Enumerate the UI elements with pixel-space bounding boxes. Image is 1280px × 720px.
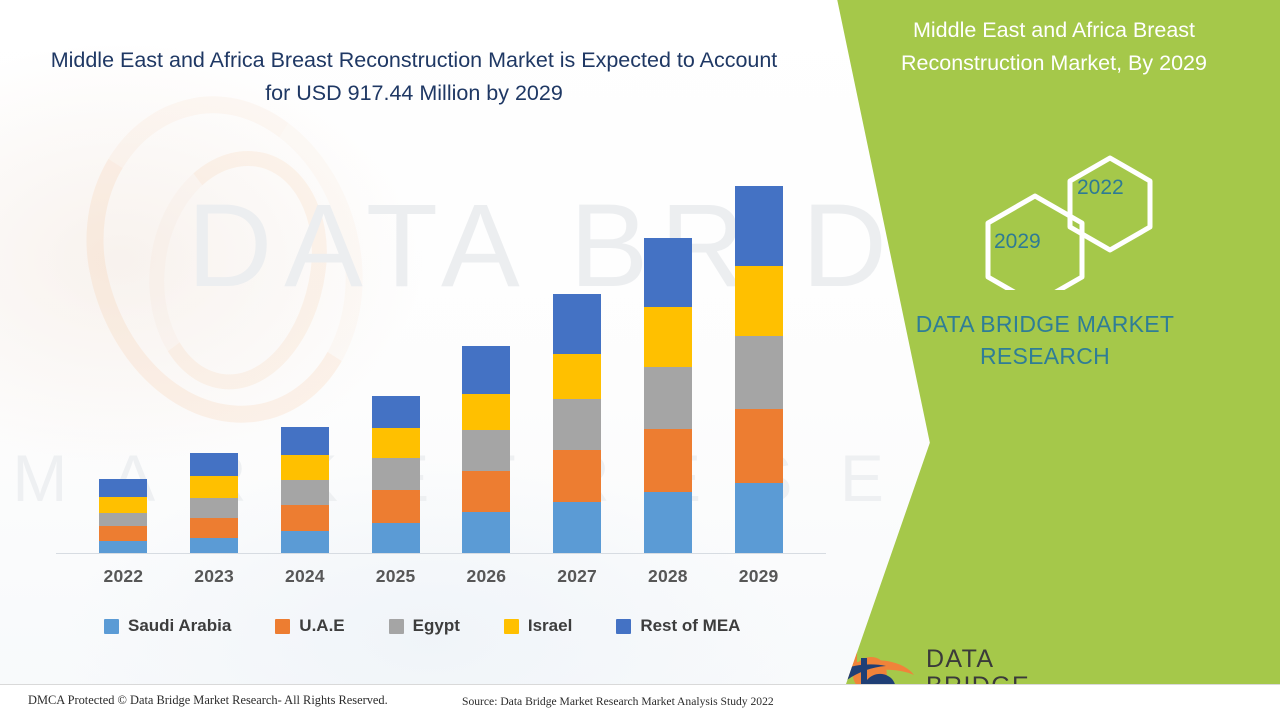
legend-label: Egypt bbox=[413, 616, 460, 636]
x-axis-label-2023: 2023 bbox=[169, 566, 260, 587]
bar-segment-rest-of-mea bbox=[99, 479, 147, 497]
bar-segment-u-a-e bbox=[553, 450, 601, 502]
stacked-bar bbox=[462, 346, 510, 554]
chart-plot-area bbox=[56, 160, 826, 554]
bar-column-2026 bbox=[441, 160, 532, 554]
bar-segment-rest-of-mea bbox=[462, 346, 510, 394]
bar-segment-egypt bbox=[372, 458, 420, 490]
chart-title: Middle East and Africa Breast Reconstruc… bbox=[44, 44, 784, 110]
bar-segment-israel bbox=[281, 455, 329, 480]
bar-segment-israel bbox=[735, 266, 783, 336]
bar-segment-u-a-e bbox=[99, 526, 147, 541]
bar-segment-israel bbox=[190, 476, 238, 498]
bar-segment-egypt bbox=[553, 399, 601, 450]
stacked-bar bbox=[372, 396, 420, 554]
bar-segment-saudi-arabia bbox=[281, 531, 329, 554]
legend-label: U.A.E bbox=[299, 616, 344, 636]
footer-dmca-text: DMCA Protected © Data Bridge Market Rese… bbox=[28, 693, 388, 708]
x-axis-label-2029: 2029 bbox=[713, 566, 804, 587]
bar-segment-israel bbox=[99, 497, 147, 513]
legend-swatch-icon bbox=[389, 619, 404, 634]
bar-segment-israel bbox=[372, 428, 420, 458]
bar-column-2028 bbox=[623, 160, 714, 554]
bar-segment-saudi-arabia bbox=[372, 523, 420, 554]
bar-segment-egypt bbox=[281, 480, 329, 505]
bar-segment-rest-of-mea bbox=[735, 186, 783, 266]
bar-column-2023 bbox=[169, 160, 260, 554]
bar-segment-rest-of-mea bbox=[190, 453, 238, 476]
bar-segment-saudi-arabia bbox=[190, 538, 238, 554]
bar-segment-israel bbox=[553, 354, 601, 399]
bar-segment-u-a-e bbox=[372, 490, 420, 523]
x-axis-label-2025: 2025 bbox=[350, 566, 441, 587]
bar-group bbox=[56, 160, 826, 554]
bar-segment-u-a-e bbox=[735, 409, 783, 483]
legend-item-israel[interactable]: Israel bbox=[504, 616, 572, 636]
bar-segment-israel bbox=[462, 394, 510, 430]
bar-segment-egypt bbox=[644, 367, 692, 429]
bar-segment-egypt bbox=[735, 336, 783, 409]
x-axis-labels: 20222023202420252026202720282029 bbox=[56, 566, 826, 587]
footer-bar: DMCA Protected © Data Bridge Market Rese… bbox=[0, 684, 1280, 720]
bar-column-2024 bbox=[260, 160, 351, 554]
bar-segment-saudi-arabia bbox=[553, 502, 601, 554]
x-axis-label-2028: 2028 bbox=[623, 566, 714, 587]
legend-swatch-icon bbox=[616, 619, 631, 634]
bar-segment-rest-of-mea bbox=[281, 427, 329, 455]
hexagon-2022-label: 2022 bbox=[1077, 176, 1124, 200]
legend-label: Israel bbox=[528, 616, 572, 636]
bar-segment-saudi-arabia bbox=[735, 483, 783, 554]
x-axis-label-2022: 2022 bbox=[78, 566, 169, 587]
bar-segment-rest-of-mea bbox=[644, 238, 692, 307]
bar-segment-u-a-e bbox=[462, 471, 510, 512]
bar-segment-u-a-e bbox=[190, 518, 238, 538]
bar-segment-u-a-e bbox=[644, 429, 692, 492]
bar-segment-rest-of-mea bbox=[553, 294, 601, 354]
x-axis-label-2027: 2027 bbox=[532, 566, 623, 587]
stacked-bar bbox=[99, 479, 147, 554]
legend-label: Saudi Arabia bbox=[128, 616, 231, 636]
bar-segment-saudi-arabia bbox=[644, 492, 692, 554]
legend-item-egypt[interactable]: Egypt bbox=[389, 616, 460, 636]
bar-column-2027 bbox=[532, 160, 623, 554]
footer-source-text: Source: Data Bridge Market Research Mark… bbox=[462, 695, 774, 708]
bar-column-2029 bbox=[713, 160, 804, 554]
legend-item-rest-of-mea[interactable]: Rest of MEA bbox=[616, 616, 740, 636]
bar-segment-egypt bbox=[462, 430, 510, 471]
bar-segment-rest-of-mea bbox=[372, 396, 420, 428]
bar-column-2022 bbox=[78, 160, 169, 554]
stacked-bar bbox=[190, 453, 238, 554]
bar-segment-egypt bbox=[99, 513, 147, 526]
legend-item-u-a-e[interactable]: U.A.E bbox=[275, 616, 344, 636]
stacked-bar bbox=[553, 294, 601, 554]
legend-item-saudi-arabia[interactable]: Saudi Arabia bbox=[104, 616, 231, 636]
panel-title: Middle East and Africa Breast Reconstruc… bbox=[850, 14, 1258, 80]
legend-swatch-icon bbox=[104, 619, 119, 634]
legend-label: Rest of MEA bbox=[640, 616, 740, 636]
stacked-bar bbox=[735, 186, 783, 554]
bar-segment-u-a-e bbox=[281, 505, 329, 531]
bar-column-2025 bbox=[350, 160, 441, 554]
hexagon-2029-label: 2029 bbox=[994, 230, 1041, 254]
stacked-bar bbox=[281, 427, 329, 554]
bar-segment-egypt bbox=[190, 498, 238, 518]
bar-segment-israel bbox=[644, 307, 692, 367]
x-axis-label-2026: 2026 bbox=[441, 566, 532, 587]
bar-segment-saudi-arabia bbox=[462, 512, 510, 554]
legend-swatch-icon bbox=[504, 619, 519, 634]
chart-legend: Saudi ArabiaU.A.EEgyptIsraelRest of MEA bbox=[104, 616, 740, 636]
x-axis-line bbox=[56, 553, 826, 554]
legend-swatch-icon bbox=[275, 619, 290, 634]
stacked-bar bbox=[644, 238, 692, 554]
x-axis-label-2024: 2024 bbox=[260, 566, 351, 587]
